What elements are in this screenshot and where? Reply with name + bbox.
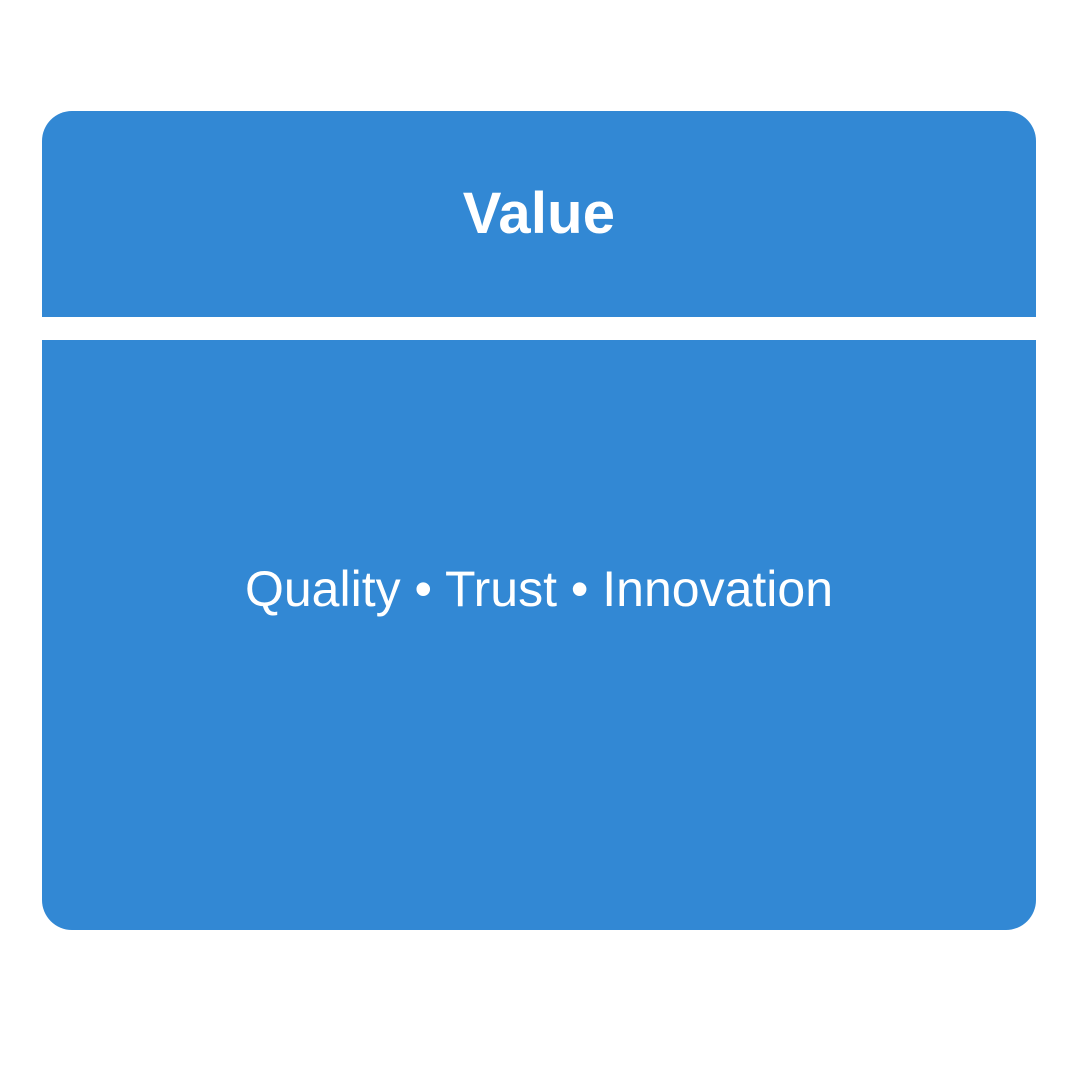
card-stage: Value Quality • Trust • Innovation (0, 0, 1080, 1080)
card-header-panel: Value (42, 111, 1036, 317)
value-card: Value Quality • Trust • Innovation (42, 111, 1036, 930)
card-title: Value (463, 184, 616, 245)
card-body-panel: Quality • Trust • Innovation (42, 340, 1036, 930)
card-panel-separator (42, 317, 1036, 340)
card-subtitle: Quality • Trust • Innovation (245, 561, 833, 619)
